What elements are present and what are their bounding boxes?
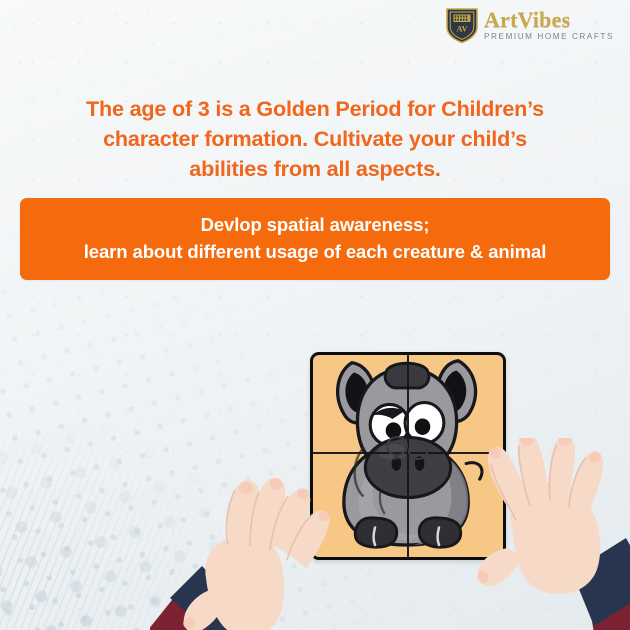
headline-block: The age of 3 is a Golden Period for Chil…: [0, 94, 630, 183]
feature-banner: Devlop spatial awareness; learn about di…: [20, 198, 610, 280]
puzzle-tab-left: [386, 436, 408, 456]
child-right-hand: [468, 438, 630, 630]
headline-line-1: The age of 3 is a Golden Period for Chil…: [42, 94, 588, 124]
child-left-hand: [150, 470, 380, 630]
brand-tagline: PREMIUM HOME CRAFTS: [484, 33, 614, 41]
banner-line-1: Devlop spatial awareness;: [84, 212, 546, 239]
banner-line-2: learn about different usage of each crea…: [84, 239, 546, 266]
shield-monogram: AV: [457, 24, 468, 33]
headline-line-3: abilities from all aspects.: [42, 154, 588, 184]
brand-name: ArtVibes: [484, 9, 614, 31]
brand-logo: AV ArtVibes PREMIUM HOME CRAFTS: [445, 6, 614, 44]
headline-line-2: character formation. Cultivate your chil…: [42, 124, 588, 154]
promo-image-root: AV ArtVibes PREMIUM HOME CRAFTS The age …: [0, 0, 630, 630]
feature-banner-text: Devlop spatial awareness; learn about di…: [76, 212, 554, 266]
puzzle-tab-right: [408, 442, 428, 460]
shield-icon: AV: [445, 6, 479, 44]
